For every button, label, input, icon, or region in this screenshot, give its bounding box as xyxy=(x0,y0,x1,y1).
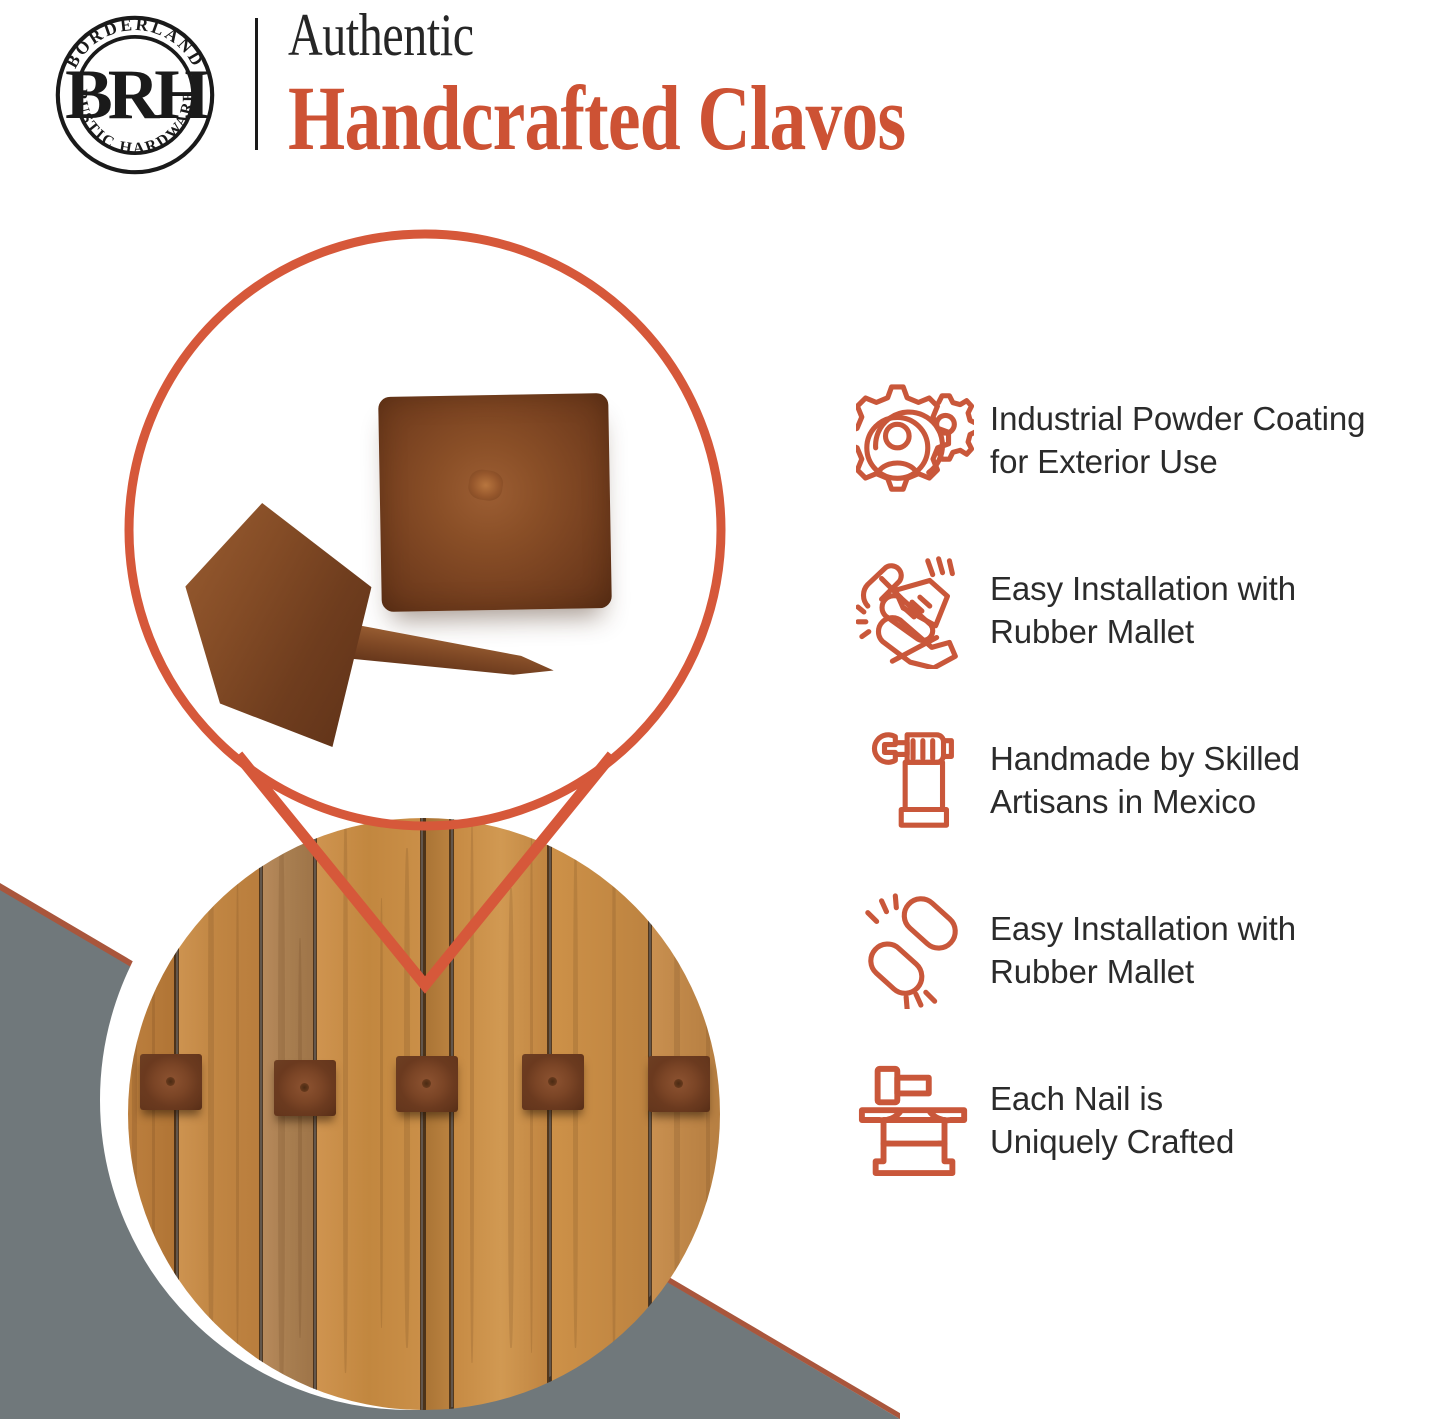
infographic-canvas: BORDERLAND RUSTIC HARDWARE BRH Authentic… xyxy=(0,0,1445,1419)
magnifier-pin-outline xyxy=(120,225,730,1015)
title-block: Authentic Handcrafted Clavos xyxy=(288,4,1388,166)
title-eyebrow: Authentic xyxy=(288,4,1168,66)
logo-monogram: BRH xyxy=(65,55,209,134)
feature-list: Industrial Powder Coating for Exterior U… xyxy=(840,355,1445,1205)
brand-logo-seal: BORDERLAND RUSTIC HARDWARE BRH xyxy=(52,12,218,178)
header-divider xyxy=(255,18,258,150)
feature-label: Each Nail is Uniquely Crafted xyxy=(990,1077,1234,1163)
clavo-on-door xyxy=(648,1056,710,1112)
feature-item: Easy Installation with Rubber Mallet xyxy=(840,865,1445,1035)
hands-mallet-icon xyxy=(840,540,990,680)
chain-link-icon xyxy=(840,880,990,1020)
feature-label: Easy Installation with Rubber Mallet xyxy=(990,907,1296,993)
product-showcase xyxy=(0,190,800,1419)
anvil-hammer-icon xyxy=(840,1050,990,1190)
feature-item: Easy Installation with Rubber Mallet xyxy=(840,525,1445,695)
header: BORDERLAND RUSTIC HARDWARE BRH Authentic… xyxy=(0,0,1445,190)
clavo-on-door xyxy=(274,1060,336,1116)
feature-label: Handmade by Skilled Artisans in Mexico xyxy=(990,737,1300,823)
fist-wrench-icon xyxy=(840,710,990,850)
feature-item: Each Nail is Uniquely Crafted xyxy=(840,1035,1445,1205)
feature-item: Handmade by Skilled Artisans in Mexico xyxy=(840,695,1445,865)
clavo-on-door xyxy=(522,1054,584,1110)
feature-item: Industrial Powder Coating for Exterior U… xyxy=(840,355,1445,525)
clavo-on-door xyxy=(396,1056,458,1112)
feature-label: Industrial Powder Coating for Exterior U… xyxy=(990,397,1365,483)
clavo-on-door xyxy=(140,1054,202,1110)
gear-person-icon xyxy=(840,370,990,510)
page-title: Handcrafted Clavos xyxy=(288,70,1168,166)
feature-label: Easy Installation with Rubber Mallet xyxy=(990,567,1296,653)
